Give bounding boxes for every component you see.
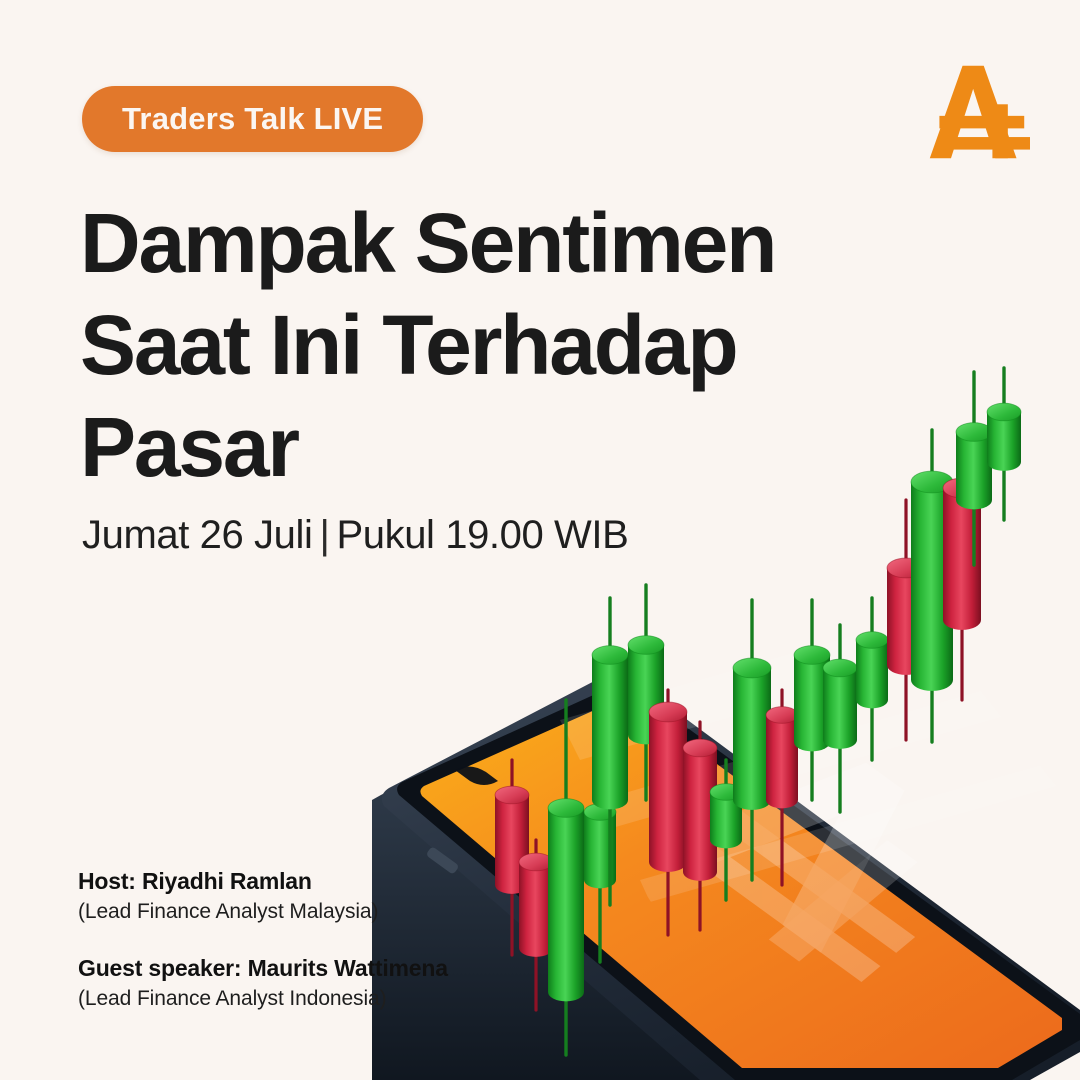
headline-line-1: Dampak Sentimen [80, 192, 780, 294]
live-badge[interactable]: Traders Talk LIVE [82, 86, 423, 152]
guest-role: (Lead Finance Analyst Indonesia) [78, 983, 448, 1014]
credits-block: Host: Riyadhi Ramlan (Lead Finance Analy… [78, 866, 448, 1040]
host-name: Host: Riyadhi Ramlan [78, 866, 448, 896]
page-title: Dampak Sentimen Saat Ini Terhadap Pasar [80, 192, 780, 498]
schedule-time: Pukul 19.00 WIB [336, 513, 628, 557]
schedule-line: Jumat 26 Juli|Pukul 19.00 WIB [82, 513, 628, 558]
host-role: (Lead Finance Analyst Malaysia) [78, 896, 448, 927]
host-credit: Host: Riyadhi Ramlan (Lead Finance Analy… [78, 866, 448, 927]
aaa-logo-icon [924, 58, 1030, 166]
schedule-separator: | [312, 513, 336, 557]
guest-name: Guest speaker: Maurits Wattimena [78, 953, 448, 983]
live-badge-label: Traders Talk LIVE [122, 101, 383, 137]
poster-canvas: Traders Talk LIVE Dampak Sentimen Saat I… [0, 0, 1080, 1080]
candle-19 [987, 368, 1021, 520]
schedule-date: Jumat 26 Juli [82, 513, 312, 557]
guest-credit: Guest speaker: Maurits Wattimena (Lead F… [78, 953, 448, 1014]
headline-line-3: Pasar [80, 396, 780, 498]
headline-line-2: Saat Ini Terhadap [80, 294, 780, 396]
